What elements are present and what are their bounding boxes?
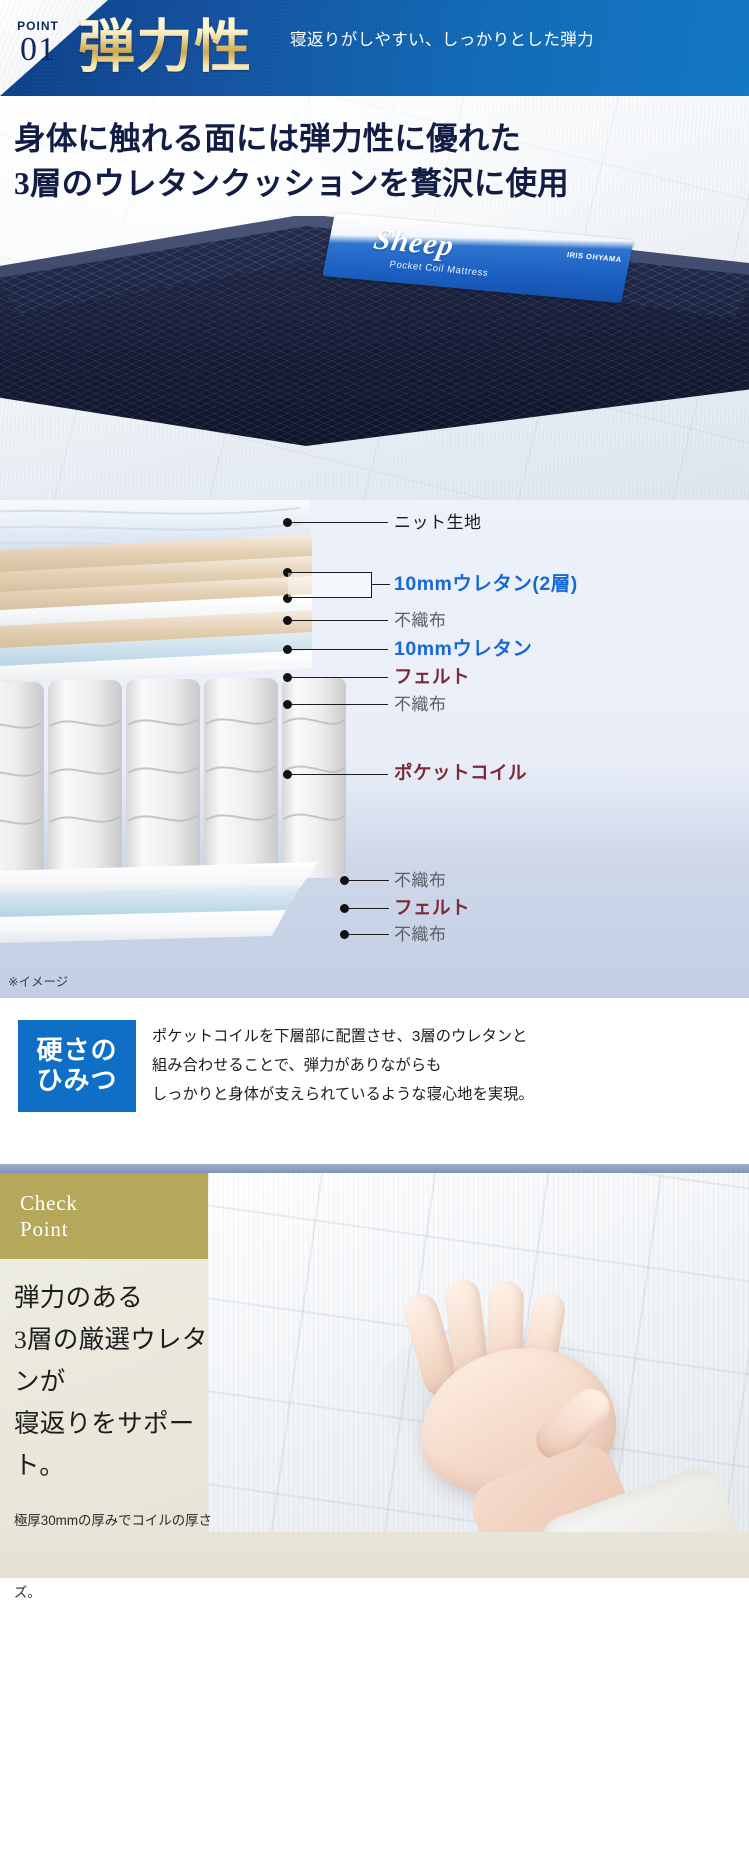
hardness-secret-line2: 組み合わせることで、弾力がありながらも — [152, 1051, 731, 1080]
section-divider — [0, 1164, 749, 1173]
layer-label-nonwoven4: 不織布 — [394, 926, 447, 943]
check-point-section: Check Point 弾力のある 3層の厳選ウレタンが 寝返りをサポート。 極… — [0, 1173, 749, 1578]
hardness-secret-line1: ポケットコイルを下層部に配置させ、3層のウレタンと — [152, 1022, 731, 1051]
check-point-heading: 弾力のある 3層の厳選ウレタンが 寝返りをサポート。 — [14, 1277, 219, 1487]
layer-leader-nonwoven4 — [347, 934, 389, 935]
lead-headline: 身体に触れる面には弾力性に優れた 3層のウレタンクッションを贅沢に使用 — [14, 116, 569, 206]
check-point-heading-line2: 3層の厳選ウレタンが — [14, 1319, 219, 1403]
maker-name: IRIS OHYAMA — [566, 250, 622, 264]
layer-leader-knit — [290, 522, 388, 523]
layer-label-knit: ニット生地 — [394, 514, 482, 531]
layer-leader-felt1 — [290, 677, 388, 678]
check-point-tab: Check Point — [0, 1173, 208, 1259]
layer-label-felt2: フェルト — [394, 899, 470, 918]
page-subtitle: 寝返りがしやすい、しっかりとした弾力 — [290, 32, 594, 49]
layer-leader-coil — [290, 774, 388, 775]
layer-label-nonwoven3: 不織布 — [394, 872, 447, 889]
layer-leader-nonwoven1 — [290, 620, 388, 621]
check-point-tab-line1: Check — [20, 1190, 208, 1216]
page-title: 弾力性 — [78, 8, 252, 88]
check-point-photo — [208, 1173, 749, 1578]
layer-leader-felt2 — [347, 908, 389, 909]
layer-label-nonwoven1: 不織布 — [394, 612, 447, 629]
lead-headline-line2: 3層のウレタンクッションを贅沢に使用 — [14, 161, 569, 206]
image-disclaimer: ※イメージ — [8, 971, 68, 990]
layer-slabs — [0, 500, 749, 998]
hardness-secret-badge: 硬さの ひみつ — [18, 1020, 136, 1112]
product-feature-page: POINT 01 弾力性 寝返りがしやすい、しっかりとした弾力 身体に触れる面に… — [0, 0, 749, 1858]
layer-label-felt1: フェルト — [394, 668, 470, 687]
hardness-secret-badge-line1: 硬さの — [36, 1036, 117, 1066]
layer-label-urethane2: 10mmウレタン(2層) — [394, 575, 578, 595]
check-point-tab-line2: Point — [20, 1216, 208, 1242]
layer-label-coil: ポケットコイル — [394, 764, 527, 783]
hardness-secret-section: 硬さの ひみつ ポケットコイルを下層部に配置させ、3層のウレタンと 組み合わせる… — [0, 998, 749, 1173]
layer-bracket-urethane2 — [288, 572, 372, 598]
lead-section: 身体に触れる面には弾力性に優れた 3層のウレタンクッションを贅沢に使用 Shee… — [0, 96, 749, 500]
point-header: POINT 01 弾力性 寝返りがしやすい、しっかりとした弾力 — [0, 0, 749, 96]
layer-leader-nonwoven2 — [290, 704, 388, 705]
check-point-heading-line1: 弾力のある — [14, 1277, 219, 1319]
lead-headline-line1: 身体に触れる面には弾力性に優れた — [14, 116, 569, 161]
brand-name: Sheep — [371, 223, 457, 264]
hardness-secret-text: ポケットコイルを下層部に配置させ、3層のウレタンと 組み合わせることで、弾力があ… — [152, 1020, 731, 1109]
layer-leader-nonwoven3 — [347, 880, 389, 881]
point-badge: POINT 01 — [6, 20, 70, 67]
layer-label-nonwoven2: 不織布 — [394, 696, 447, 713]
layer-label-urethane1: 10mmウレタン — [394, 640, 532, 660]
check-point-heading-line3: 寝返りをサポート。 — [14, 1403, 219, 1487]
mattress-photo: Sheep Pocket Coil Mattress IRIS OHYAMA — [0, 216, 749, 500]
layer-diagram: ニット生地 10mmウレタン(2層) 不織布 10mmウレタン フェルト 不織布… — [0, 500, 749, 998]
layer-leader-urethane1 — [290, 649, 388, 650]
check-point-footer-band — [0, 1532, 749, 1578]
point-number: 01 — [6, 33, 70, 67]
layer-leader-urethane2 — [372, 584, 390, 585]
hardness-secret-line3: しっかりと身体が支えられているような寝心地を実現。 — [152, 1080, 731, 1109]
hardness-secret-badge-line2: ひみつ — [36, 1066, 117, 1096]
hand-pressing-mattress — [358, 1253, 678, 1553]
